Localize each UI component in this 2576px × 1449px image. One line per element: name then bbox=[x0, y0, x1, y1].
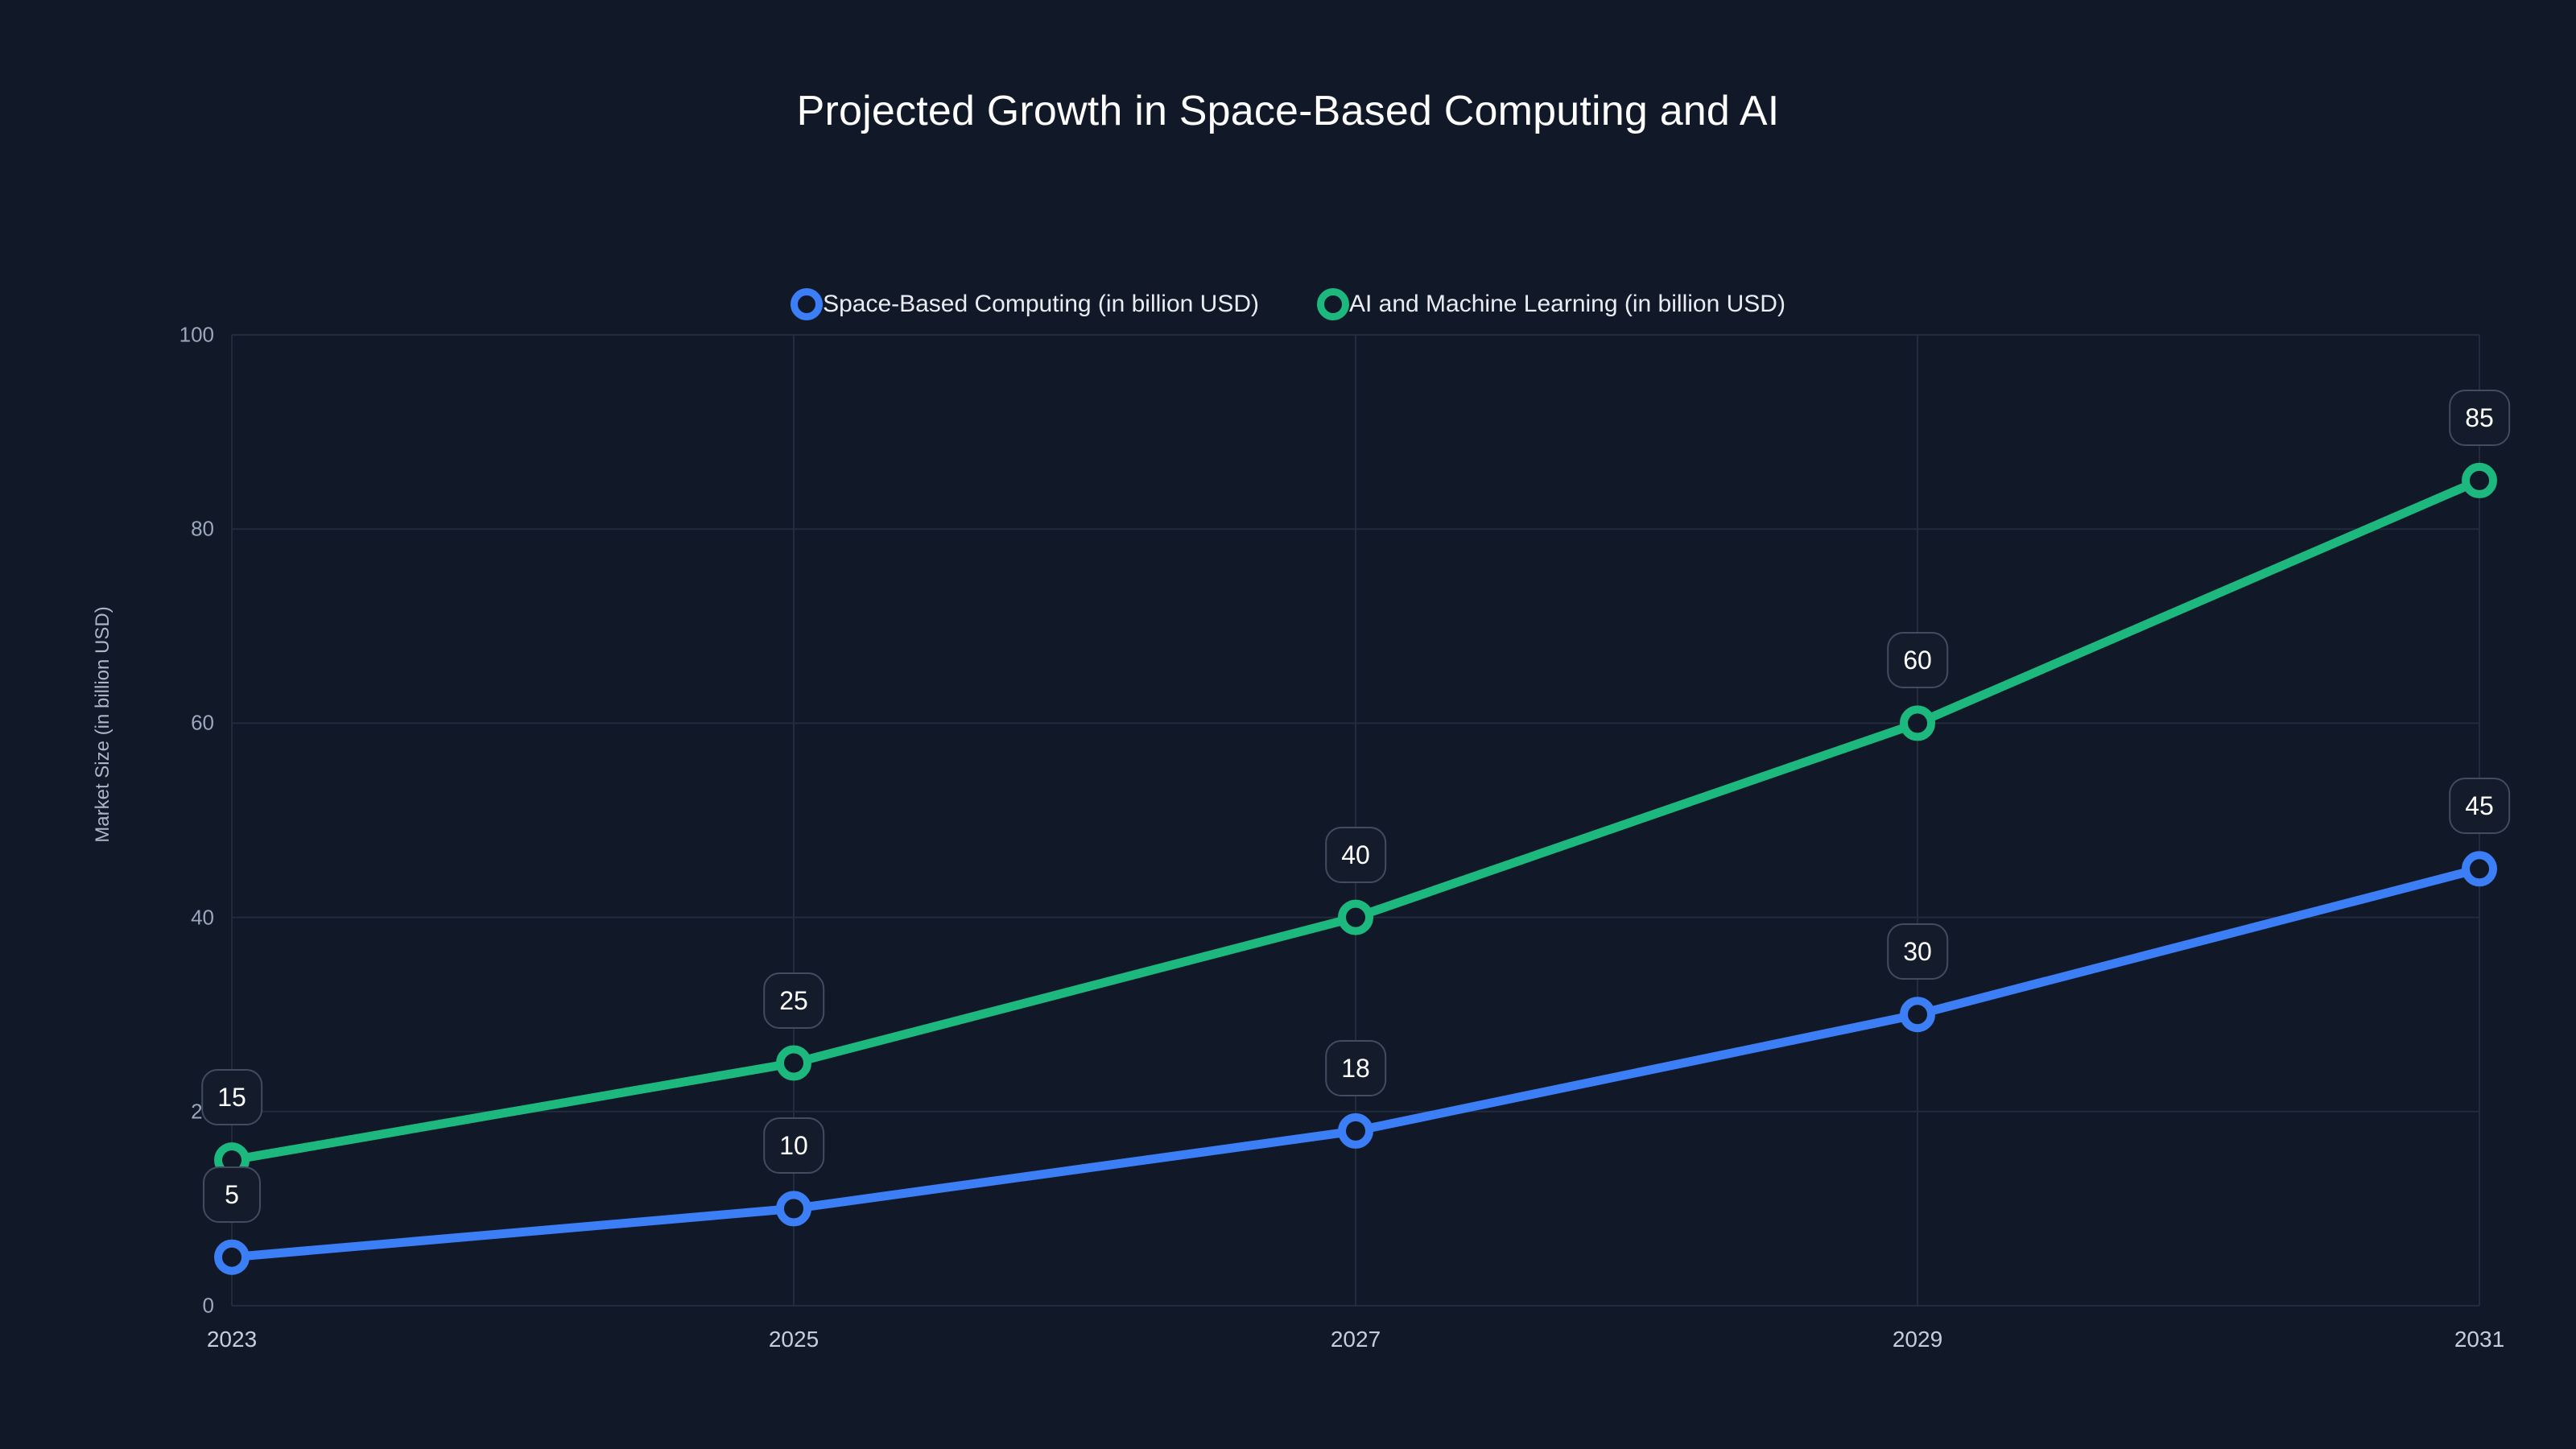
vertical-gridlines bbox=[232, 335, 2479, 1306]
chart-container: Projected Growth in Space-Based Computin… bbox=[0, 0, 2576, 1449]
data-point-label: 45 bbox=[2449, 778, 2510, 834]
data-point[interactable] bbox=[1904, 709, 1931, 737]
data-point[interactable] bbox=[2466, 467, 2493, 494]
data-point[interactable] bbox=[218, 1244, 246, 1271]
plot-svg bbox=[232, 335, 2479, 1306]
x-axis-tick: 2027 bbox=[1331, 1327, 1381, 1352]
x-axis-tick: 2025 bbox=[769, 1327, 819, 1352]
y-axis-tick: 80 bbox=[191, 517, 214, 542]
data-point[interactable] bbox=[780, 1195, 807, 1222]
data-point-label: 25 bbox=[763, 972, 824, 1029]
chart-legend: Space-Based Computing (in billion USD) A… bbox=[0, 288, 2576, 320]
x-axis-tick: 2029 bbox=[1893, 1327, 1942, 1352]
ring-marker-icon bbox=[791, 288, 823, 320]
legend-item-space-based-computing[interactable]: Space-Based Computing (in billion USD) bbox=[791, 288, 1259, 320]
chart-title: Projected Growth in Space-Based Computin… bbox=[0, 87, 2576, 135]
data-point-label: 60 bbox=[1887, 632, 1948, 688]
y-axis-title: Market Size (in billion USD) bbox=[92, 606, 114, 842]
data-point-label: 15 bbox=[201, 1069, 262, 1125]
data-point[interactable] bbox=[780, 1050, 807, 1077]
data-point-label: 30 bbox=[1887, 923, 1948, 980]
legend-label: AI and Machine Learning (in billion USD) bbox=[1349, 292, 1785, 316]
y-axis-tick: 0 bbox=[203, 1294, 214, 1319]
data-point-label: 85 bbox=[2449, 390, 2510, 446]
x-axis-tick-labels: 2023 2025 2027 2029 2031 bbox=[232, 1327, 2479, 1367]
x-axis-tick: 2031 bbox=[2454, 1327, 2504, 1352]
legend-item-ai-and-machine-learning[interactable]: AI and Machine Learning (in billion USD) bbox=[1317, 288, 1785, 320]
data-point-label: 40 bbox=[1325, 827, 1386, 883]
x-axis-tick: 2023 bbox=[207, 1327, 257, 1352]
y-axis-tick-labels: 100 80 60 40 20 0 bbox=[145, 335, 214, 1306]
data-point-label: 10 bbox=[763, 1117, 824, 1174]
data-point-label: 18 bbox=[1325, 1040, 1386, 1096]
data-point[interactable] bbox=[1342, 904, 1369, 931]
y-axis-tick: 100 bbox=[180, 323, 214, 348]
data-point[interactable] bbox=[1342, 1117, 1369, 1145]
y-axis-tick: 60 bbox=[191, 711, 214, 736]
y-axis-tick: 40 bbox=[191, 905, 214, 930]
data-point[interactable] bbox=[2466, 855, 2493, 882]
data-point-label: 5 bbox=[203, 1166, 261, 1223]
data-point[interactable] bbox=[1904, 1001, 1931, 1028]
plot-area: 5101830451525406085 bbox=[232, 335, 2479, 1306]
ring-marker-icon bbox=[1317, 288, 1349, 320]
legend-label: Space-Based Computing (in billion USD) bbox=[823, 292, 1259, 316]
